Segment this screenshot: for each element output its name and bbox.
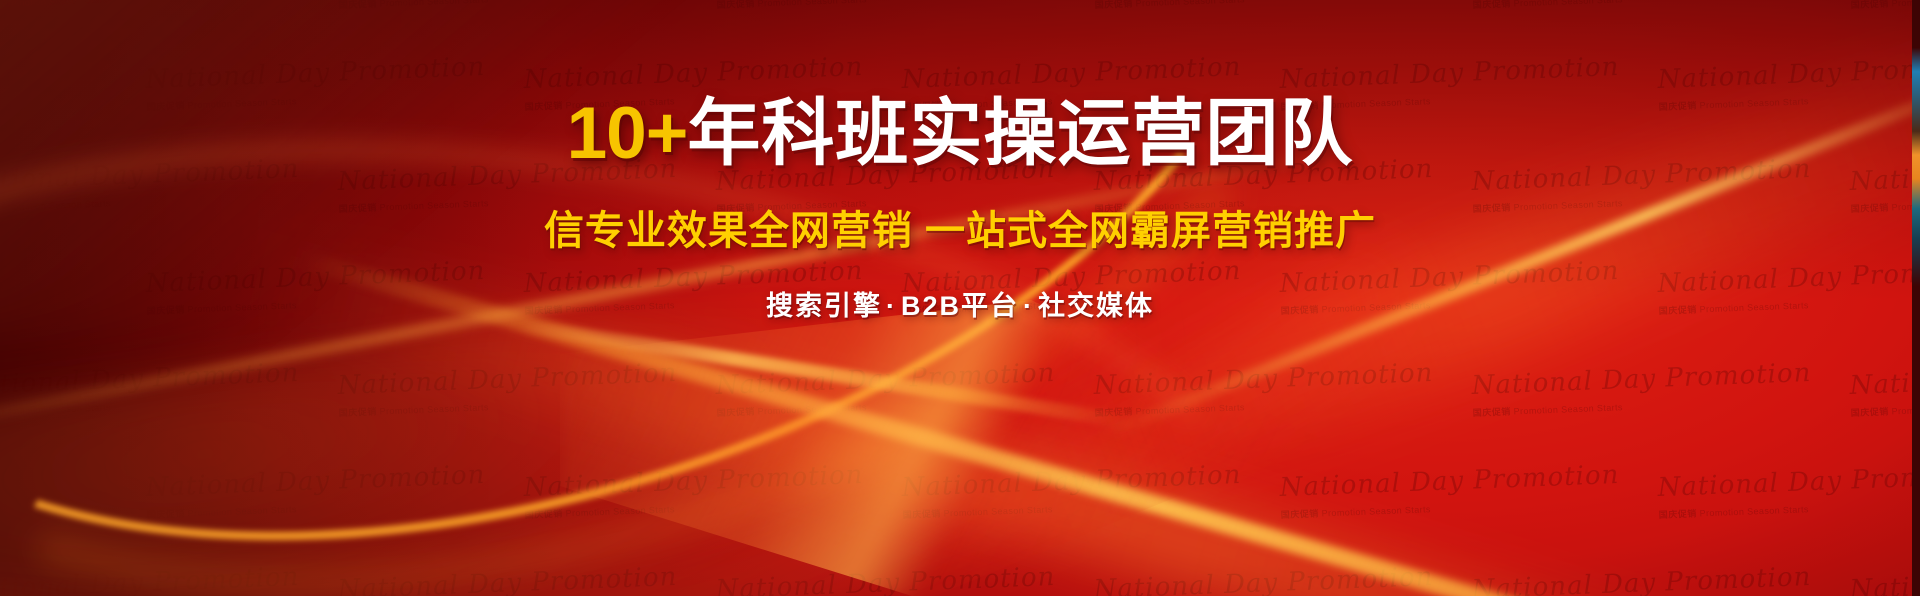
watermark-cn-text: 国庆促销	[525, 509, 563, 520]
watermark-cn-text: 国庆促销	[717, 407, 755, 418]
watermark-cn-text: 国庆促销	[1095, 407, 1133, 418]
watermark-cn-text: 国庆促销	[1851, 0, 1889, 10]
watermark-tile: National Day Promotion 国庆促销 Promotion Se…	[0, 0, 221, 11]
watermark-cn-text: 国庆促销	[1851, 407, 1889, 418]
watermark-script-text: National Day Promotion	[523, 57, 784, 93]
watermark-subtext: 国庆促销 Promotion Season Starts	[1094, 0, 1354, 11]
watermark-script-text: National Day Promotion	[1471, 567, 1732, 596]
watermark-cn-text: 国庆促销	[147, 509, 185, 520]
watermark-en-text: Promotion Season Starts	[1135, 0, 1245, 8]
watermark-script-text: National Day Promotion	[0, 363, 220, 399]
watermark-subtext: 国庆促销 Promotion Season Starts	[1472, 0, 1732, 11]
watermark-row: National Day Promotion 国庆促销 Promotion Se…	[0, 572, 1920, 596]
watermark-script-text: National Day Promotion	[1093, 567, 1354, 596]
watermark-cn-text: 国庆促销	[1095, 0, 1133, 10]
watermark-subtext: 国庆促销 Promotion Season Starts	[338, 0, 598, 11]
watermark-en-text: Promotion Season Starts	[1321, 504, 1431, 518]
watermark-script-text: National Day Promotion	[1093, 363, 1354, 399]
headline-number: 10+	[567, 93, 688, 174]
watermark-subtext: 国庆促销 Promotion Season Starts	[716, 0, 976, 11]
headline-text: 年科班实操运营团队	[687, 93, 1353, 174]
watermark-en-text: Promotion Season Starts	[1135, 402, 1245, 416]
tagline-separator: ·	[1019, 291, 1038, 321]
watermark-en-text: Promotion Season Starts	[565, 504, 675, 518]
watermark-script-text: National Day Promotion	[0, 567, 220, 596]
watermark-script-text: National Day Promotion	[145, 465, 406, 501]
watermark-en-text: Promotion Season Starts	[379, 0, 489, 8]
watermark-cn-text: 国庆促销	[1473, 407, 1511, 418]
watermark-en-text: Promotion Season Starts	[1513, 402, 1623, 416]
watermark-en-text: Promotion Season Starts	[187, 504, 297, 518]
watermark-en-text: Promotion Season Starts	[1513, 0, 1623, 8]
watermark-en-text: Promotion Season Starts	[1, 402, 111, 416]
carousel-next-slide-peek[interactable]	[1912, 0, 1920, 596]
watermark-script-text: National Day Promotion	[901, 465, 1162, 501]
watermark-tile: National Day Promotion 国庆促销 Promotion Se…	[1279, 465, 1541, 521]
watermark-tile: National Day Promotion 国庆促销 Promotion Se…	[1849, 0, 1920, 11]
watermark-script-text: National Day Promotion	[901, 57, 1162, 93]
watermark-tile: National Day Promotion 国庆促销 Promotion Se…	[1093, 0, 1355, 11]
watermark-cn-text: 国庆促销	[339, 0, 377, 10]
page-title: 10+年科班实操运营团队	[0, 96, 1920, 172]
tagline-item-search-engine: 搜索引擎	[766, 291, 882, 321]
watermark-cn-text: 国庆促销	[903, 509, 941, 520]
watermark-en-text: Promotion Season Starts	[757, 0, 867, 8]
tagline-separator: ·	[882, 291, 901, 321]
watermark-tile: National Day Promotion 国庆促销 Promotion Se…	[901, 465, 1163, 521]
watermark-tile: National Day Promotion 国庆促销 Promotion Se…	[1093, 363, 1355, 419]
watermark-tile: National Day Promotion 国庆促销 Promotion Se…	[1093, 567, 1355, 596]
watermark-tile: National Day Promotion 国庆促销 Promotion Se…	[1471, 567, 1733, 596]
watermark-script-text: National Day Promotion	[1279, 57, 1540, 93]
watermark-tile: National Day Promotion 国庆促销 Promotion Se…	[145, 465, 407, 521]
watermark-row: National Day Promotion 国庆促销 Promotion Se…	[0, 470, 1920, 516]
watermark-tile: National Day Promotion 国庆促销 Promotion Se…	[1849, 567, 1920, 596]
watermark-tile: National Day Promotion 国庆促销 Promotion Se…	[715, 363, 977, 419]
watermark-script-text: National Day Promotion	[1279, 465, 1540, 501]
watermark-tile: National Day Promotion 国庆促销 Promotion Se…	[0, 567, 221, 596]
watermark-tile: National Day Promotion 国庆促销 Promotion Se…	[1471, 0, 1733, 11]
watermark-script-text: National Day Promotion	[337, 567, 598, 596]
promotional-banner[interactable]: National Day Promotion 国庆促销 Promotion Se…	[0, 0, 1920, 596]
watermark-en-text: Promotion Season Starts	[943, 504, 1053, 518]
tagline: 搜索引擎·B2B平台·社交媒体	[0, 284, 1920, 323]
watermark-tile: National Day Promotion 国庆促销 Promotion Se…	[337, 363, 599, 419]
watermark-script-text: National Day Promotion	[715, 363, 976, 399]
watermark-subtext: 国庆促销 Promotion Season Starts	[1850, 0, 1920, 11]
watermark-tile: National Day Promotion 国庆促销 Promotion Se…	[715, 0, 977, 11]
watermark-tile: National Day Promotion 国庆促销 Promotion Se…	[523, 465, 785, 521]
watermark-script-text: National Day Promotion	[1657, 465, 1918, 501]
watermark-subtext: 国庆促销 Promotion Season Starts	[0, 396, 221, 419]
subheadline: 信专业效果全网营销 一站式全网霸屏营销推广	[0, 198, 1920, 256]
watermark-row: National Day Promotion 国庆促销 Promotion Se…	[0, 368, 1920, 414]
watermark-tile: National Day Promotion 国庆促销 Promotion Se…	[715, 567, 977, 596]
watermark-cn-text: 国庆促销	[1659, 509, 1697, 520]
watermark-en-text: Promotion Season Starts	[757, 402, 867, 416]
tagline-item-b2b-platform: B2B平台	[901, 291, 1019, 321]
watermark-cn-text: 国庆促销	[1281, 509, 1319, 520]
watermark-tile: National Day Promotion 国庆促销 Promotion Se…	[0, 363, 221, 419]
tagline-item-social-media: 社交媒体	[1038, 291, 1154, 321]
watermark-script-text: National Day Promotion	[1471, 363, 1732, 399]
watermark-script-text: National Day Promotion	[337, 363, 598, 399]
watermark-tile: National Day Promotion 国庆促销 Promotion Se…	[1471, 363, 1733, 419]
watermark-row: National Day Promotion 国庆促销 Promotion Se…	[0, 0, 1920, 6]
watermark-script-text: National Day Promotion	[145, 57, 406, 93]
banner-content: 10+年科班实操运营团队 信专业效果全网营销 一站式全网霸屏营销推广 搜索引擎·…	[0, 96, 1920, 323]
watermark-tile: National Day Promotion 国庆促销 Promotion Se…	[1849, 363, 1920, 419]
watermark-script-text: National Day Promotion	[1849, 363, 1920, 399]
watermark-script-text: National Day Promotion	[715, 567, 976, 596]
watermark-cn-text: 国庆促销	[1473, 0, 1511, 10]
watermark-cn-text: 国庆促销	[339, 407, 377, 418]
watermark-tile: National Day Promotion 国庆促销 Promotion Se…	[1657, 465, 1919, 521]
watermark-script-text: National Day Promotion	[523, 465, 784, 501]
watermark-script-text: National Day Promotion	[1849, 567, 1920, 596]
watermark-script-text: National Day Promotion	[1657, 57, 1918, 93]
watermark-en-text: Promotion Season Starts	[1699, 504, 1809, 518]
watermark-en-text: Promotion Season Starts	[1, 0, 111, 8]
watermark-tile: National Day Promotion 国庆促销 Promotion Se…	[337, 567, 599, 596]
watermark-en-text: Promotion Season Starts	[379, 402, 489, 416]
watermark-cn-text: 国庆促销	[717, 0, 755, 10]
watermark-subtext: 国庆促销 Promotion Season Starts	[0, 0, 221, 11]
watermark-tile: National Day Promotion 国庆促销 Promotion Se…	[337, 0, 599, 11]
